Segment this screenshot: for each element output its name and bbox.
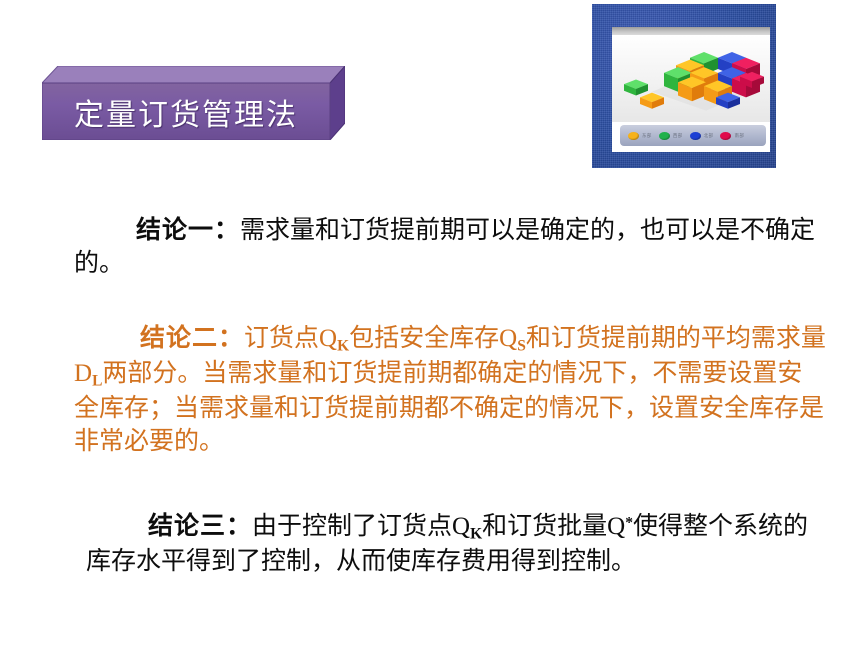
text-run: Q bbox=[499, 325, 517, 352]
title-box-top-face bbox=[42, 66, 345, 83]
legend-label: 东部 bbox=[642, 133, 652, 139]
subscript: K bbox=[337, 337, 349, 354]
conclusion-3-lead: 结论三： bbox=[148, 513, 252, 540]
superscript: * bbox=[625, 515, 633, 532]
text-run: Q bbox=[607, 513, 625, 540]
subscript: S bbox=[517, 337, 526, 354]
legend-item: 南部 bbox=[720, 132, 744, 140]
legend-swatch-west bbox=[659, 132, 670, 140]
legend-swatch-north bbox=[690, 132, 701, 140]
legend-swatch-south bbox=[720, 132, 731, 140]
text-run: 订货点 bbox=[244, 325, 319, 352]
title-box-front-face bbox=[42, 83, 330, 140]
conclusion-3-paragraph: 结论三：由于控制了订货点QK和订货批量Q*使得整个系统的库存水平得到了控制，从而… bbox=[86, 510, 830, 578]
legend-item: 北部 bbox=[690, 132, 714, 140]
hero-chart-plot-area bbox=[612, 35, 770, 122]
subscript: K bbox=[470, 525, 482, 542]
conclusion-2-lead: 结论二： bbox=[140, 325, 244, 352]
hero-chart-canvas: 东部 西部 北部 南部 bbox=[612, 27, 770, 152]
legend-label: 北部 bbox=[704, 133, 714, 139]
legend-item: 西部 bbox=[659, 132, 683, 140]
cube-chart-graphic bbox=[612, 35, 770, 122]
text-run: D bbox=[74, 360, 92, 387]
text-run: 包括安全库存 bbox=[349, 325, 499, 352]
conclusion-2-paragraph: 结论二：订货点QK包括安全库存QS和订货提前期的平均需求量DL两部分。当需求量和… bbox=[74, 322, 826, 458]
conclusion-1-lead: 结论一： bbox=[136, 217, 240, 244]
subscript: L bbox=[92, 372, 102, 389]
slide-title-banner: 定量订货管理法 bbox=[42, 66, 345, 140]
text-run: 由于控制了订货点 bbox=[252, 513, 452, 540]
text-run: 和订货提前期的平均需求量 bbox=[526, 325, 826, 352]
legend-label: 西部 bbox=[673, 133, 683, 139]
text-run: 和订货批量 bbox=[482, 513, 607, 540]
conclusion-1-paragraph: 结论一：需求量和订货提前期可以是确定的，也可以是不确定的。 bbox=[74, 214, 826, 281]
text-run: 两部分。当需求量和订货提前期都确定的情况下，不需要设置安全库存；当需求量和订货提… bbox=[74, 360, 824, 455]
hero-chart-legend: 东部 西部 北部 南部 bbox=[620, 125, 766, 146]
text-run: Q bbox=[319, 325, 337, 352]
title-3d-box-shape bbox=[42, 66, 345, 140]
legend-swatch-east bbox=[628, 132, 639, 140]
legend-label: 南部 bbox=[734, 133, 744, 139]
hero-image-3d-cube-chart: 东部 西部 北部 南部 bbox=[592, 4, 776, 168]
text-run: Q bbox=[452, 513, 470, 540]
legend-item: 东部 bbox=[628, 132, 652, 140]
